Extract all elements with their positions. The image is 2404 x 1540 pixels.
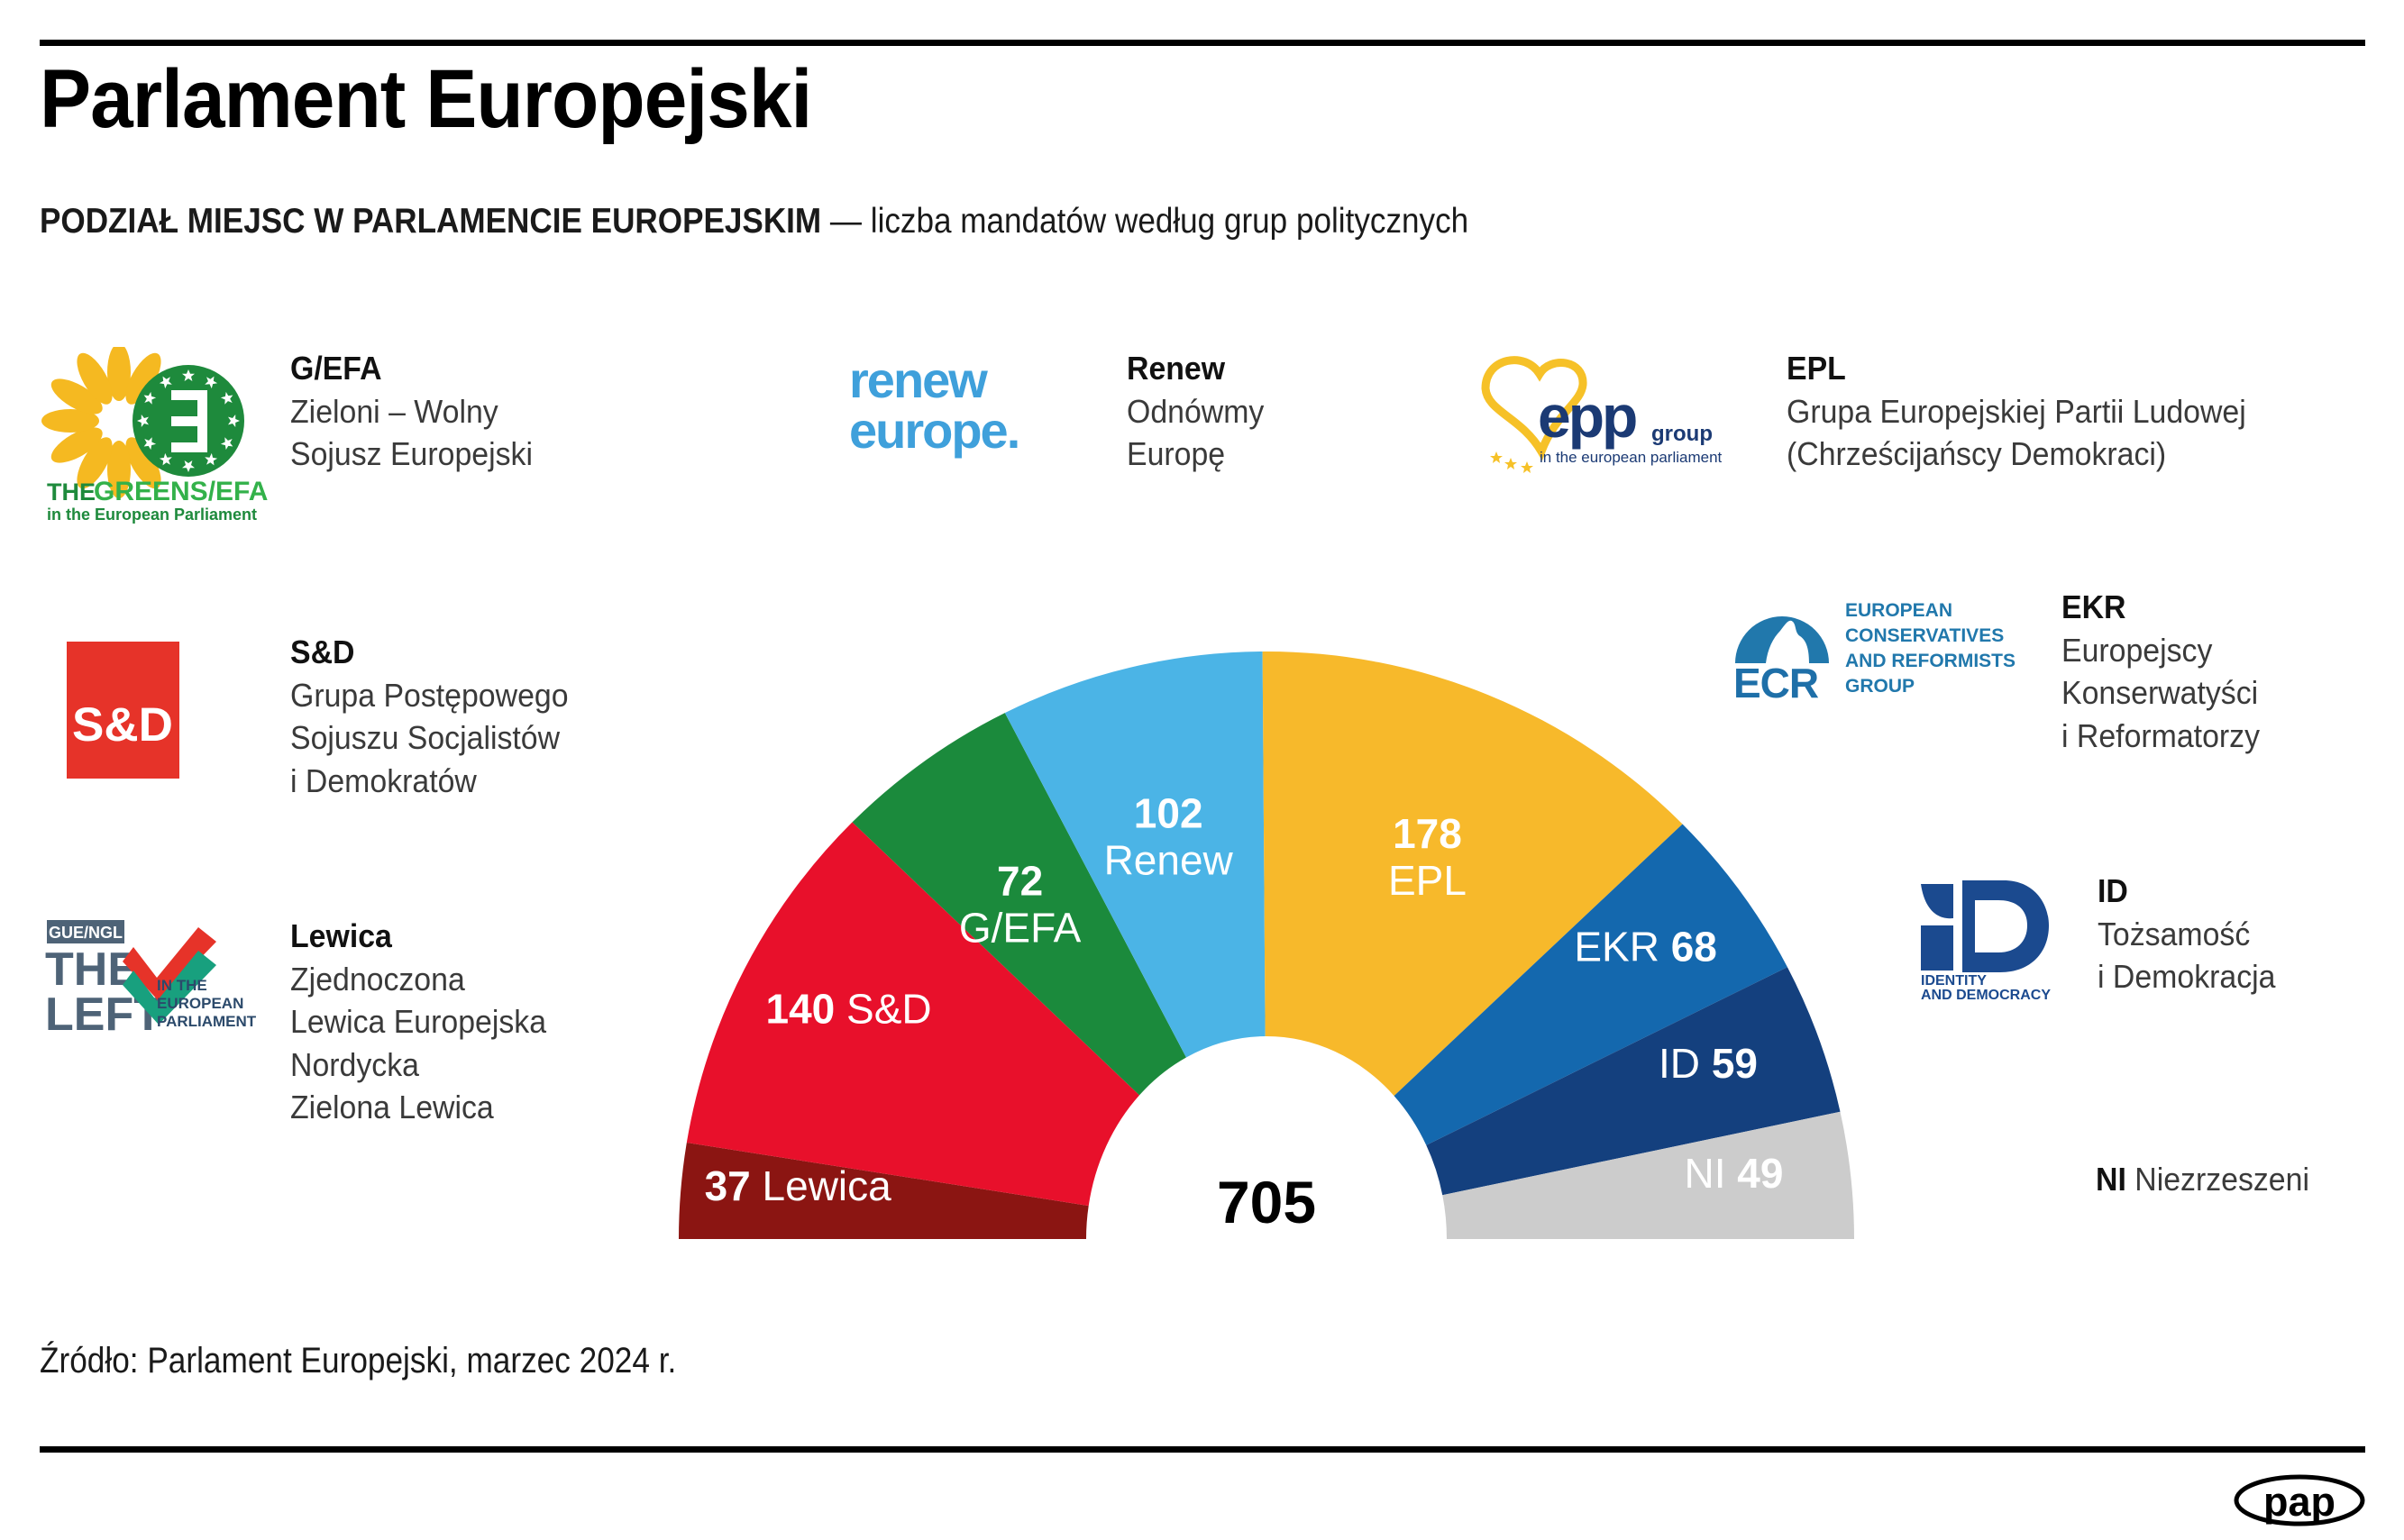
segment-label-ekr: EKR 68	[1574, 924, 1717, 970]
total-seats-label: 705	[1217, 1169, 1316, 1235]
legend-text-renew: Renew OdnówmyEuropę	[1127, 347, 1264, 476]
legend-desc-ni: Niezrzeszeni	[2134, 1161, 2309, 1198]
legend-desc-renew: OdnówmyEuropę	[1127, 390, 1264, 476]
legend-text-id: ID Tożsamośći Demokracja	[2098, 870, 2275, 998]
legend-code-epl: EPL	[1787, 347, 2246, 390]
legend-desc-sd: Grupa PostępowegoSojuszu Socjalistówi De…	[290, 674, 569, 803]
legend-item-renew: renew europe. Renew OdnówmyEuropę	[846, 347, 1273, 476]
renew-europe-logo: renew europe.	[846, 347, 1107, 469]
legend-code-gefa: G/EFA	[290, 347, 533, 390]
legend-code-ni: NI	[2096, 1161, 2126, 1198]
legend-desc-lewica: ZjednoczonaLewica EuropejskaNordyckaZiel…	[290, 958, 546, 1129]
epp-group-logo: epp group in the european parliament	[1469, 347, 1767, 478]
legend-item-gefa: THE GREENS/EFA in the European Parliamen…	[40, 347, 548, 532]
identity-democracy-logo: IDENTITY AND DEMOCRACY	[1897, 870, 2078, 1005]
legend-text-sd: S&D Grupa PostępowegoSojuszu Socjalistów…	[290, 631, 569, 802]
id-line1: IDENTITY	[1921, 973, 1987, 989]
legend-item-sd: S&D S&D Grupa PostępowegoSojuszu Socjali…	[40, 631, 586, 802]
page-title: Parlament Europejski	[40, 56, 811, 143]
top-divider	[40, 40, 2365, 46]
left-badge-text: GUE/NGL	[49, 924, 123, 942]
legend-desc-id: Tożsamośći Demokracja	[2098, 913, 2275, 998]
epp-tagline-text: in the european parliament	[1540, 449, 1723, 466]
legend-item-ni: NI Niezrzeszeni	[2096, 1158, 2323, 1201]
id-line2: AND DEMOCRACY	[1921, 988, 2051, 1000]
legend-code-ekr: EKR	[2061, 586, 2260, 629]
legend-code-renew: Renew	[1127, 347, 1264, 390]
legend-text-ni: NI Niezrzeszeni	[2096, 1158, 2309, 1201]
bottom-divider	[40, 1446, 2365, 1453]
epp-group-text: group	[1651, 422, 1713, 446]
legend-code-sd: S&D	[290, 631, 569, 674]
segment-label-id: ID 59	[1659, 1040, 1758, 1087]
left-tagline-2: EUROPEAN	[157, 995, 243, 1012]
legend-desc-gefa: Zieloni – WolnySojusz Europejski	[290, 390, 533, 476]
segment-label-ni: NI 49	[1685, 1150, 1784, 1197]
legend-text-ekr: EKR EuropejscyKonserwatyścii Reformatorz…	[2061, 586, 2260, 757]
greens-tagline: in the European Parliament	[47, 506, 257, 524]
legend-desc-epl: Grupa Europejskiej Partii Ludowej(Chrześ…	[1787, 390, 2246, 476]
page-subtitle: PODZIAŁ MIEJSC W PARLAMENCIE EUROPEJSKIM…	[40, 203, 1468, 241]
segment-label-sd: 140 S&D	[766, 986, 932, 1033]
segment-label-lewica: 37 Lewica	[705, 1162, 892, 1209]
legend-desc-ekr: EuropejscyKonserwatyścii Reformatorzy	[2061, 629, 2260, 758]
ecr-line1: EUROPEAN	[1845, 600, 1952, 621]
greens-wordmark-the: THE	[47, 478, 96, 506]
seats-hemicycle-chart: 37 Lewica140 S&D72G/EFA102Renew178EPLEKR…	[663, 631, 1870, 1262]
legend-text-epl: EPL Grupa Europejskiej Partii Ludowej(Ch…	[1787, 347, 2246, 476]
legend-item-id: IDENTITY AND DEMOCRACY ID Tożsamośći Dem…	[1897, 870, 2287, 1005]
sd-mark-text: S&D	[72, 698, 173, 752]
legend-text-lewica: Lewica ZjednoczonaLewica EuropejskaNordy…	[290, 915, 546, 1129]
sd-logo: S&D	[40, 631, 274, 788]
legend-code-lewica: Lewica	[290, 915, 546, 958]
subtitle-bold-part: PODZIAŁ MIEJSC W PARLAMENCIE EUROPEJSKIM	[40, 202, 821, 241]
renew-line2-text: europe.	[849, 402, 1019, 459]
left-tagline-1: IN THE	[157, 977, 207, 994]
source-note: Źródło: Parlament Europejski, marzec 202…	[40, 1341, 676, 1381]
ecr-line3: AND REFORMISTS	[1845, 651, 2016, 671]
legend-item-lewica: GUE/NGL THE LEFT IN THE EUROPEAN PARLIAM…	[40, 915, 562, 1129]
greens-wordmark-greens: GREENS/EFA	[94, 477, 268, 506]
left-tagline-3: PARLIAMENT	[157, 1013, 257, 1030]
legend-text-gefa: G/EFA Zieloni – WolnySojusz Europejski	[290, 347, 533, 476]
the-left-gue-ngl-logo: GUE/NGL THE LEFT IN THE EUROPEAN PARLIAM…	[40, 915, 274, 1045]
legend-code-id: ID	[2098, 870, 2275, 913]
greens-efa-logo: THE GREENS/EFA in the European Parliamen…	[40, 347, 274, 532]
renew-line1-text: renew	[849, 351, 988, 408]
epp-mark-text: epp	[1538, 383, 1636, 450]
segment-label-epl: 178EPL	[1388, 810, 1467, 904]
subtitle-rest-part: — liczba mandatów według grup polityczny…	[821, 202, 1468, 241]
pap-mark-text: pap	[2263, 1479, 2335, 1525]
legend-item-epl: epp group in the european parliament EPL…	[1469, 347, 2275, 478]
pap-logo: pap	[2234, 1474, 2365, 1526]
